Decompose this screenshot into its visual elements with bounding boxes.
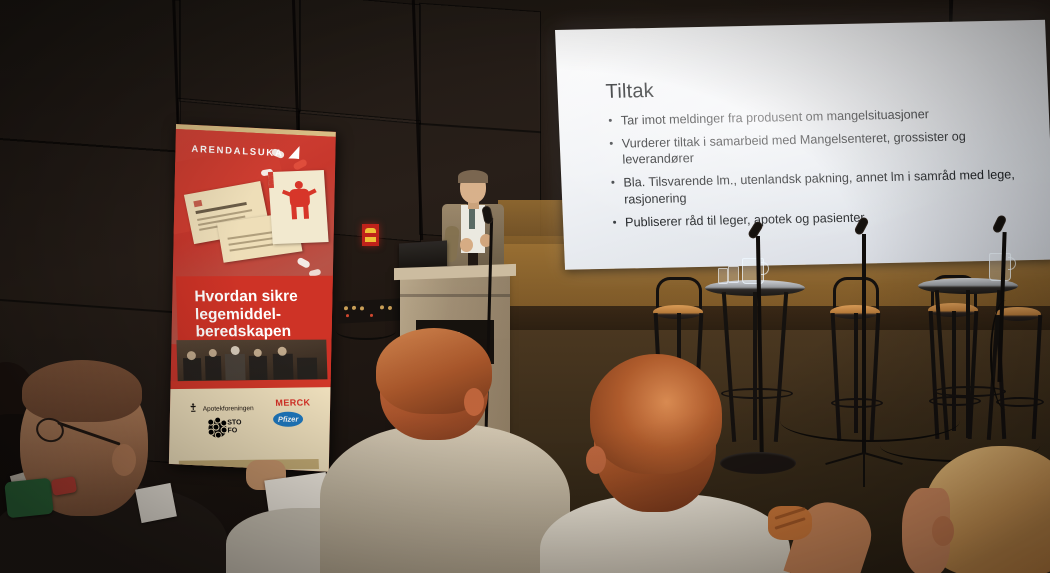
slide-content: Tiltak Tar imot meldinger fra produsent … — [605, 72, 1036, 237]
sail-icon — [288, 146, 299, 160]
acoustic-panel — [180, 0, 300, 111]
doc-line — [229, 243, 273, 251]
photo-figure-head — [187, 351, 196, 360]
projection-screen: Tiltak Tar imot meldinger fra produsent … — [555, 20, 1050, 270]
sign-glyph-top — [365, 228, 376, 233]
sponsor-label-lmi-line1: STO — [227, 420, 242, 427]
headline-line-3: beredskapen — [195, 323, 291, 340]
sponsor-label-apotekforeningen: Apotekforeningen — [203, 405, 254, 413]
audience-person-with-glasses — [12, 366, 202, 573]
headline-line-1: Hvordan sikre — [194, 288, 298, 305]
figure-leg — [291, 205, 297, 219]
table-leg — [966, 290, 970, 438]
slide-bullet-list: Tar imot meldinger fra produsent om mang… — [607, 104, 1036, 231]
audience-ear — [932, 516, 954, 546]
headline-line-2: legemiddel- — [195, 306, 282, 323]
photo-figure — [225, 354, 246, 380]
water-pitcher — [989, 253, 1011, 281]
pill-graphic — [292, 158, 308, 171]
mixer-led — [370, 314, 373, 317]
audience-hair — [590, 354, 722, 474]
card-checkbox — [269, 184, 274, 188]
photo-figure — [273, 354, 294, 380]
doc-logo-mark — [193, 200, 202, 207]
audio-mixer-desk — [336, 298, 404, 324]
mixer-led — [346, 314, 349, 317]
water-glass — [728, 266, 739, 283]
rosette-petal — [221, 420, 226, 425]
rosette-petal — [208, 420, 213, 425]
acoustic-panel — [300, 0, 420, 123]
slide-bullet: Bla. Tilsvarende lm., utenlandsk pakning… — [609, 166, 1034, 208]
rosette-petal — [213, 425, 218, 430]
slide-title: Tiltak — [605, 72, 1030, 104]
water-glass — [718, 268, 728, 284]
card-text-line — [269, 186, 313, 188]
audience-paper — [135, 483, 177, 523]
mixer-knob[interactable] — [388, 306, 392, 310]
photo-figure-head — [209, 349, 217, 357]
mixer-knob[interactable] — [344, 306, 348, 310]
sponsor-label-pfizer: Pfizer — [273, 412, 304, 427]
photo-figure-head — [254, 349, 262, 357]
photo-figure — [297, 358, 318, 380]
fire-equipment-sign — [362, 224, 379, 246]
speaker-hand-left — [460, 238, 473, 252]
lmi-rosette-icon — [209, 420, 226, 436]
audience-leg — [772, 494, 892, 573]
mixer-knob[interactable] — [352, 306, 356, 310]
audience-person-auburn-left — [352, 336, 552, 573]
audience-hair — [22, 360, 142, 422]
audience-ear — [112, 444, 136, 476]
stage-cable — [990, 300, 1022, 410]
stool-leg — [1032, 315, 1042, 439]
audience-person-blonde — [916, 446, 1050, 573]
audience-item-green — [4, 478, 54, 519]
slide-bullet: Vurderer tiltak i samarbeid med Mangelse… — [607, 127, 1032, 169]
rosette-petal — [216, 433, 221, 438]
sign-glyph-bottom — [365, 237, 376, 242]
sponsor-label-merck: MERCK — [275, 397, 310, 407]
rosette-petal — [209, 430, 214, 435]
speaker-hair — [458, 170, 488, 183]
mic-tripod-leg — [863, 453, 865, 487]
conference-room-photo: Tiltak Tar imot meldinger fra produsent … — [0, 0, 1050, 573]
slide-bullet: Tar imot meldinger fra produsent om mang… — [607, 104, 1032, 130]
photo-figure-head — [231, 346, 240, 355]
photo-figure-head — [278, 347, 287, 356]
photo-figure — [205, 356, 222, 380]
slide-bullet: Publiserer råd til leger, apotek og pasi… — [611, 206, 1036, 232]
lectern-bevel — [400, 294, 510, 297]
pill-graphic — [296, 257, 311, 269]
speaker-collar — [469, 207, 475, 229]
rosette-petal — [221, 427, 226, 432]
audience-ear — [464, 388, 484, 416]
audience-shoulders — [320, 424, 570, 573]
mixer-knob[interactable] — [380, 305, 384, 309]
mixer-knob[interactable] — [360, 306, 364, 310]
acoustic-panel — [0, 139, 180, 312]
audience-person-auburn-right — [568, 364, 768, 573]
rosette-petal — [215, 418, 220, 423]
photo-figure — [249, 356, 268, 380]
sponsor-label-lmi-line2: FO — [228, 428, 238, 435]
figure-leg — [303, 205, 309, 219]
audience-ear — [586, 446, 606, 474]
banner-info-card — [268, 170, 329, 244]
acoustic-panel — [420, 4, 540, 132]
acoustic-panel — [0, 0, 180, 151]
